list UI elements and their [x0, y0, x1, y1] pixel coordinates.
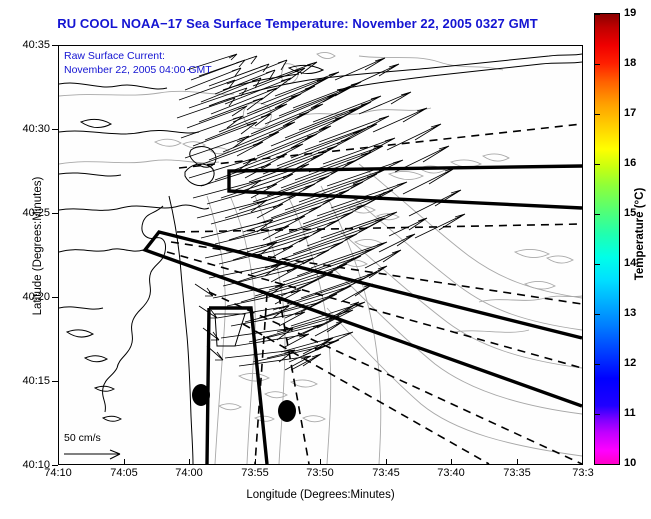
x-tick-label: 73:50 — [290, 467, 350, 479]
x-tick-label: 73:3 — [553, 467, 613, 479]
colorbar-tick — [595, 64, 600, 65]
scale-key-label: 50 cm/s — [64, 432, 101, 444]
colorbar-tick — [595, 464, 600, 465]
colorbar-tick-label: 17 — [624, 107, 636, 119]
annotation-block: Raw Surface Current: November 22, 2005 0… — [64, 49, 212, 77]
x-tick-label: 74:05 — [94, 467, 154, 479]
colorbar-tick-label: 19 — [624, 7, 636, 19]
colorbar-tick — [595, 14, 600, 15]
radar-site-marker — [278, 400, 296, 422]
bathymetry-contours — [59, 52, 582, 464]
colorbar-tick — [595, 114, 600, 115]
sst-map-figure: RU COOL NOAA−17 Sea Surface Temperature:… — [0, 0, 651, 519]
map-plot-area — [58, 45, 583, 465]
map-canvas — [59, 46, 582, 464]
colorbar-tick — [595, 164, 600, 165]
x-tick — [451, 459, 452, 465]
colorbar-tick — [595, 214, 600, 215]
coastline — [59, 54, 582, 464]
colorbar-tick — [595, 414, 600, 415]
right-arrow-icon — [62, 448, 126, 460]
x-tick — [517, 459, 518, 465]
radar-coverage-swaths — [145, 166, 582, 464]
x-tick — [189, 459, 190, 465]
figure-title: RU COOL NOAA−17 Sea Surface Temperature:… — [0, 16, 595, 31]
y-tick — [52, 465, 58, 466]
colorbar-tick — [595, 314, 600, 315]
colorbar-tick — [595, 264, 600, 265]
x-tick — [582, 459, 583, 465]
x-tick-label: 73:35 — [487, 467, 547, 479]
y-tick — [52, 381, 58, 382]
x-tick-label: 74:00 — [159, 467, 219, 479]
y-axis-title: Latitude (Degrees:Minutes) — [32, 116, 44, 376]
x-tick — [320, 459, 321, 465]
colorbar-title: Temperature (°C) — [634, 154, 646, 314]
x-tick — [58, 459, 59, 465]
x-tick — [255, 459, 256, 465]
colorbar-tick-label: 11 — [624, 407, 636, 419]
y-tick — [52, 129, 58, 130]
x-tick-label: 73:55 — [225, 467, 285, 479]
y-tick-label: 40:35 — [2, 39, 50, 51]
colorbar-tick-label: 10 — [624, 457, 636, 469]
y-tick — [52, 45, 58, 46]
x-tick-label: 73:45 — [356, 467, 416, 479]
colorbar-tick-label: 18 — [624, 57, 636, 69]
y-tick — [52, 297, 58, 298]
colorbar — [594, 13, 620, 465]
radar-coverage-swaths-inner — [215, 314, 245, 346]
y-tick-label: 40:10 — [2, 459, 50, 471]
y-tick — [52, 213, 58, 214]
x-tick-label: 73:40 — [421, 467, 481, 479]
colorbar-tick-label: 12 — [624, 357, 636, 369]
x-tick — [124, 459, 125, 465]
x-tick — [386, 459, 387, 465]
colorbar-tick — [595, 364, 600, 365]
x-axis-title: Longitude (Degrees:Minutes) — [58, 489, 583, 501]
radar-site-marker — [192, 384, 210, 406]
annotation-line-2: November 22, 2005 04:00 GMT — [64, 63, 212, 77]
annotation-line-1: Raw Surface Current: — [64, 49, 212, 63]
y-tick-label: 40:15 — [2, 375, 50, 387]
